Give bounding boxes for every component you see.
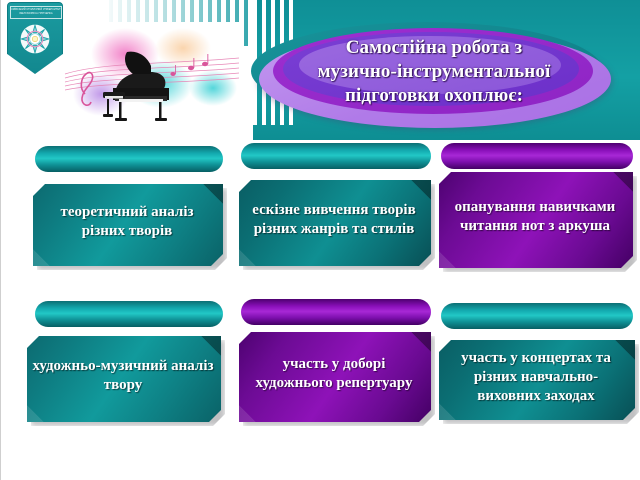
content-box-4-label: художньо-музичний аналіз твору	[31, 357, 215, 395]
page-title-line-1: Самостійна робота з	[263, 36, 605, 60]
content-box-3-label: опанування навичками читання нот з аркуш…	[443, 198, 627, 236]
pill-box-2	[241, 143, 431, 169]
piano-artwork	[63, 22, 241, 130]
pill-box-3	[441, 143, 633, 169]
pill-box-5	[241, 299, 431, 325]
content-box-5-label: участь у доборі художнього репертуару	[243, 355, 425, 393]
content-box-3[interactable]: опанування навичками читання нот з аркуш…	[439, 172, 633, 268]
content-box-6-label: участь у концертах та різних навчально-в…	[443, 349, 629, 406]
starburst-rosette-icon	[20, 24, 50, 54]
content-box-1[interactable]: теоретичний аналіз різних творів	[33, 184, 223, 266]
content-box-2-label: ескізне вивчення творів різних жанрів та…	[243, 201, 425, 239]
page-title: Самостійна робота з музично-інструментал…	[263, 36, 605, 108]
page-title-line-2: музично-інструментальної	[263, 60, 605, 84]
content-box-5[interactable]: участь у доборі художнього репертуару	[239, 332, 431, 422]
pill-box-1	[35, 146, 223, 172]
content-box-1-label: теоретичний аналіз різних творів	[37, 203, 217, 241]
content-box-6[interactable]: участь у концертах та різних навчально-в…	[439, 340, 635, 420]
content-box-4[interactable]: художньо-музичний аналіз твору	[27, 336, 221, 422]
pill-box-6	[441, 303, 633, 329]
content-box-2[interactable]: ескізне вивчення творів різних жанрів та…	[239, 180, 431, 266]
page-title-line-3: підготовки охоплює:	[263, 84, 605, 108]
pill-box-4	[35, 301, 223, 327]
crest-caption: КИЇВСЬКИЙ СТОЛИЧНИЙ УНІВЕРСИТЕТ ІМЕНІ БО…	[10, 6, 62, 19]
grand-piano-illustration	[63, 22, 241, 130]
title-banner: Самостійна робота з музично-інструментал…	[247, 22, 619, 132]
university-crest: КИЇВСЬКИЙ СТОЛИЧНИЙ УНІВЕРСИТЕТ ІМЕНІ БО…	[7, 2, 63, 74]
slide-canvas: КИЇВСЬКИЙ СТОЛИЧНИЙ УНІВЕРСИТЕТ ІМЕНІ БО…	[0, 0, 640, 480]
